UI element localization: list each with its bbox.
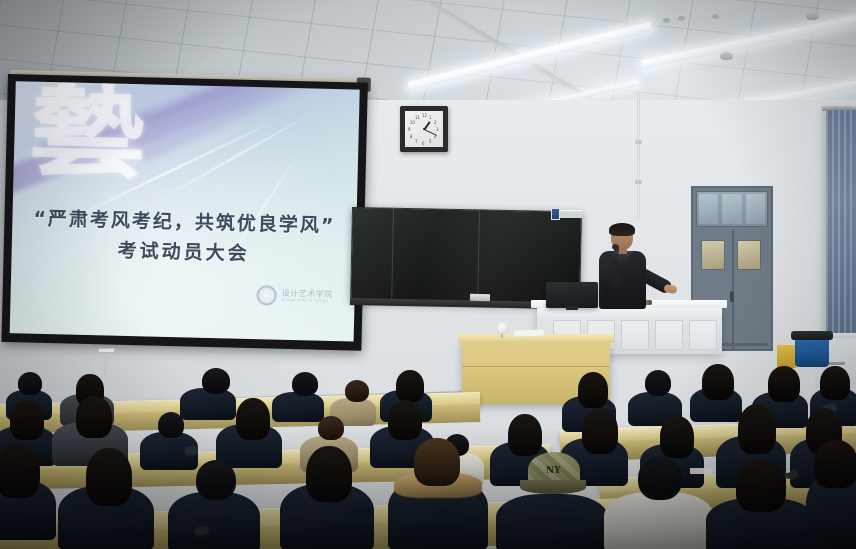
window-curtain[interactable]	[826, 110, 856, 335]
clock-numeral: 1	[429, 115, 432, 120]
student-hair	[388, 400, 422, 440]
student-hair	[86, 448, 132, 506]
student-hair	[236, 398, 270, 440]
student-hair	[660, 416, 694, 458]
student-head	[318, 416, 344, 440]
student-hair	[736, 460, 786, 512]
clock-face: 121234567891011	[405, 111, 443, 147]
clock-numeral: 2	[434, 120, 437, 125]
institution-name: 设计艺术学院 School of Art & Design	[282, 289, 333, 303]
ceiling-fixture	[663, 18, 670, 23]
projection-screen[interactable]: 藝 “严肃考风考纪，共筑优良学风” 考试动员大会 设计艺术学院 School o…	[1, 74, 367, 351]
clock-numeral: 3	[436, 127, 439, 132]
transom-pane	[722, 194, 741, 224]
wall-notice	[560, 210, 582, 218]
student-hair	[10, 400, 44, 440]
institution-name-en: School of Art & Design	[282, 298, 333, 303]
student-head	[645, 370, 671, 396]
door-handle[interactable]	[730, 291, 734, 302]
wall-clock: 121234567891011	[400, 106, 448, 152]
student-head	[202, 368, 230, 394]
student-hair	[306, 446, 352, 502]
clock-numeral: 6	[422, 141, 425, 146]
student-hair	[820, 366, 850, 400]
student-hair	[578, 372, 608, 408]
student-head	[345, 380, 369, 402]
audience-area: NY	[0, 352, 856, 549]
desk-paper	[690, 468, 712, 474]
microphone-head-icon	[612, 244, 619, 250]
student-head	[18, 372, 42, 395]
clock-numeral: 8	[410, 134, 413, 139]
podium-lamp[interactable]	[497, 322, 508, 334]
slide-logo: 设计艺术学院 School of Art & Design	[256, 285, 332, 307]
transom-pane	[699, 194, 718, 224]
clock-numeral: 11	[415, 115, 420, 120]
student-hair	[814, 440, 856, 488]
student-torso	[496, 494, 608, 549]
slide-surface: 藝 “严肃考风考纪，共筑优良学风” 考试动员大会 设计艺术学院 School o…	[10, 81, 360, 341]
conduit-clip	[635, 180, 642, 184]
door-window-right	[737, 240, 761, 270]
student-hair	[768, 366, 800, 402]
cap-logo: NY	[546, 466, 561, 476]
clock-numeral: 5	[429, 139, 432, 144]
student-hair	[738, 404, 776, 454]
monitor-stand	[566, 306, 578, 310]
podium-papers	[514, 329, 544, 336]
student-torso	[168, 492, 260, 549]
presenter	[585, 225, 675, 325]
lecture-hall-photo: 藝 “严肃考风考纪，共筑优良学风” 考试动员大会 设计艺术学院 School o…	[0, 0, 856, 549]
slide-watermark-character: 藝	[27, 81, 144, 184]
clock-numeral: 10	[410, 120, 415, 125]
clock-numeral: 9	[408, 127, 411, 132]
door-transom-window	[696, 191, 768, 227]
student-head	[196, 460, 236, 500]
blue-wall-sign	[551, 208, 560, 220]
cap-brim	[520, 480, 586, 494]
smoke-detector-icon	[806, 12, 819, 20]
smoke-detector-icon	[720, 52, 733, 60]
clock-center-pin	[423, 128, 425, 130]
student-hair	[702, 364, 734, 400]
clock-numeral: 4	[434, 134, 437, 139]
student-torso	[272, 392, 324, 422]
ceiling-fixture	[678, 16, 685, 21]
student-hair	[508, 414, 542, 456]
student-head	[158, 412, 184, 438]
blackboard-eraser[interactable]	[470, 294, 490, 301]
student-hair	[396, 370, 424, 402]
presenter-hair	[609, 223, 635, 236]
clock-numeral: 7	[415, 139, 418, 144]
console-panel	[689, 320, 717, 350]
student-hair	[76, 396, 112, 438]
student-hair	[414, 438, 460, 486]
student-hair	[0, 444, 40, 498]
ceiling-fixture	[712, 14, 719, 19]
trash-bin-lid	[791, 331, 833, 340]
student-hair	[582, 408, 618, 454]
institution-emblem-icon	[256, 285, 276, 305]
door-window-left	[701, 240, 725, 270]
student-head	[638, 456, 682, 500]
door-center-split	[732, 230, 734, 349]
transom-pane	[746, 194, 765, 224]
clock-numeral: 12	[422, 113, 427, 118]
student-torso	[604, 492, 714, 549]
student-head	[292, 372, 318, 396]
wall-conduit	[637, 92, 640, 220]
conduit-clip	[635, 140, 642, 144]
